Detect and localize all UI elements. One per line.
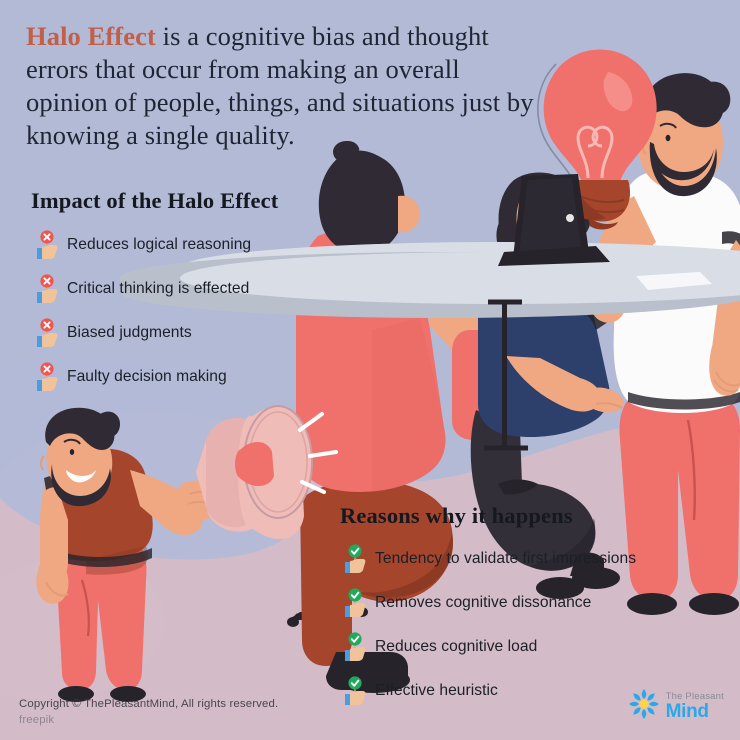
reasons-section-heading: Reasons why it happens — [340, 503, 573, 529]
list-item-label: Faulty decision making — [67, 368, 227, 386]
brand-logo-line2: Mind — [666, 702, 724, 721]
headline-accent: Halo Effect — [26, 21, 156, 51]
infographic-poster: .sk { fill:#f0a882; } /* skin */ .sk2 { … — [0, 0, 740, 740]
list-item-label: Biased judgments — [67, 324, 192, 342]
brand-logo-line1: The Pleasant — [666, 692, 724, 702]
list-item[interactable]: Biased judgments — [33, 314, 333, 351]
list-item[interactable]: Removes cognitive dissonance — [341, 584, 721, 621]
list-item[interactable]: Critical thinking is effected — [33, 270, 333, 307]
list-item-label: Reduces cognitive load — [375, 638, 537, 656]
list-item-label: Removes cognitive dissonance — [375, 594, 591, 612]
brand-logo-text: The Pleasant Mind — [666, 692, 724, 722]
copyright-text: Copyright © ThePleasantMind, All rights … — [19, 698, 278, 710]
thumbs-down-cross-icon — [33, 230, 59, 260]
list-item-label: Effective heuristic — [375, 682, 498, 700]
list-item[interactable]: Reduces cognitive load — [341, 628, 721, 665]
thumbs-down-cross-icon — [33, 362, 59, 392]
list-item[interactable]: Tendency to validate first impressions — [341, 540, 721, 577]
list-item-label: Critical thinking is effected — [67, 280, 249, 298]
impact-bullet-list: Reduces logical reasoning Critical think… — [33, 226, 333, 402]
pleasant-mind-starburst-icon — [628, 688, 660, 725]
thumbs-up-check-icon — [341, 676, 367, 706]
list-item[interactable]: Faulty decision making — [33, 358, 333, 395]
headline: Halo Effect is a cognitive bias and thou… — [26, 20, 546, 152]
thumbs-up-check-icon — [341, 632, 367, 662]
thumbs-down-cross-icon — [33, 318, 59, 348]
image-credit-text: freepik — [19, 714, 54, 726]
list-item-label: Tendency to validate first impressions — [375, 550, 636, 568]
impact-section-heading: Impact of the Halo Effect — [31, 188, 278, 214]
thumbs-up-check-icon — [341, 544, 367, 574]
list-item-label: Reduces logical reasoning — [67, 236, 251, 254]
thumbs-up-check-icon — [341, 588, 367, 618]
list-item[interactable]: Reduces logical reasoning — [33, 226, 333, 263]
thumbs-down-cross-icon — [33, 274, 59, 304]
brand-logo[interactable]: The Pleasant Mind — [628, 688, 724, 725]
